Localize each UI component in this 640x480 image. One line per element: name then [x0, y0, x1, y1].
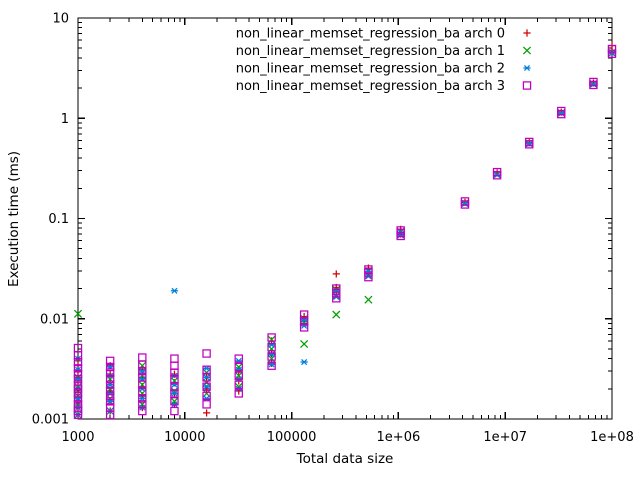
y-tick-label: 0.001	[32, 413, 69, 428]
scatter-plot: 1000100001000001e+061e+071e+08 0.0010.01…	[0, 0, 640, 480]
y-tick-label: 10	[52, 12, 69, 27]
legend-label-2: non_linear_memset_regression_ba arch 2	[236, 62, 505, 77]
x-tick-label: 1000	[61, 430, 94, 445]
x-tick-label: 10000	[164, 430, 205, 445]
legend-label-1: non_linear_memset_regression_ba arch 1	[236, 44, 505, 59]
y-tick-label: 0.01	[40, 312, 69, 327]
y-tick-label: 0.1	[48, 212, 69, 227]
legend-label-3: non_linear_memset_regression_ba arch 3	[236, 79, 505, 94]
y-axis-title: Execution time (ms)	[6, 151, 22, 287]
x-tick-label: 1e+06	[377, 430, 421, 445]
legend-label-0: non_linear_memset_regression_ba arch 0	[236, 27, 505, 42]
chart-container: 1000100001000001e+061e+071e+08 0.0010.01…	[0, 0, 640, 480]
x-axis-title: Total data size	[296, 451, 394, 467]
y-tick-label: 1	[61, 112, 69, 127]
x-tick-label: 1e+08	[590, 430, 634, 445]
x-tick-label: 100000	[267, 430, 317, 445]
x-tick-label: 1e+07	[483, 430, 527, 445]
